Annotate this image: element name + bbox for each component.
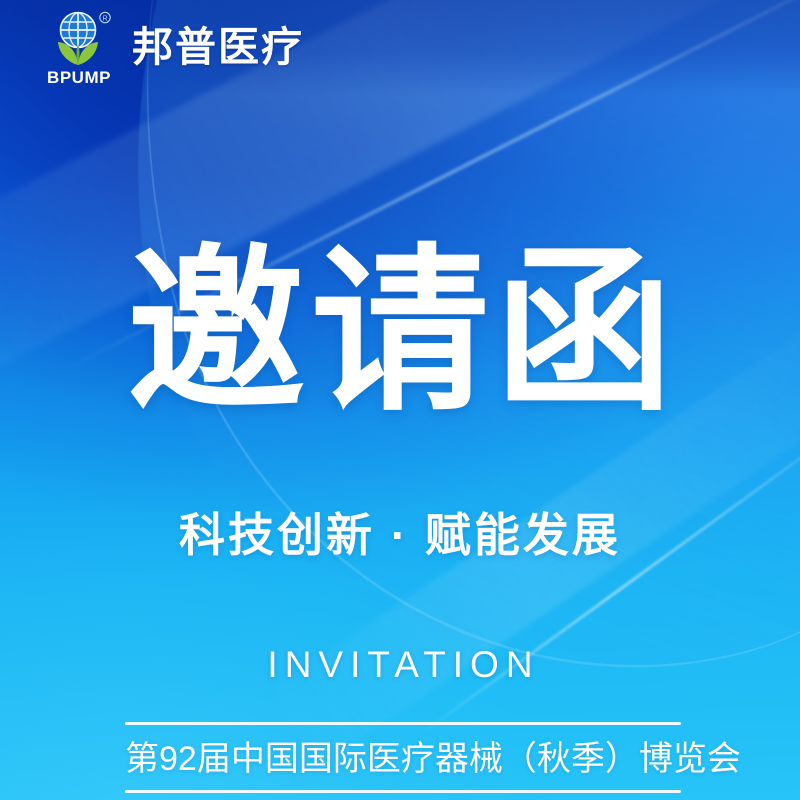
- invitation-label: INVITATION: [0, 645, 800, 686]
- invitation-poster: R BPUMP 邦普医疗 邀请函 科技创新 · 赋能发展 INVITATION …: [0, 0, 800, 800]
- brand-name: 邦普医疗: [132, 27, 304, 68]
- page-title: 邀请函: [0, 243, 800, 421]
- svg-text:R: R: [102, 15, 107, 22]
- bpump-logo-icon: R BPUMP: [46, 10, 118, 86]
- poster-subtitle: 科技创新 · 赋能发展: [0, 508, 800, 563]
- svg-text:BPUMP: BPUMP: [47, 68, 111, 86]
- poster-header: R BPUMP 邦普医疗: [0, 0, 800, 95]
- poster-footer: 第92届中国国际医疗器械（秋季）博览会: [125, 722, 681, 793]
- footer-divider-bottom: [125, 790, 681, 793]
- event-name: 第92届中国国际医疗器械（秋季）博览会: [125, 725, 681, 790]
